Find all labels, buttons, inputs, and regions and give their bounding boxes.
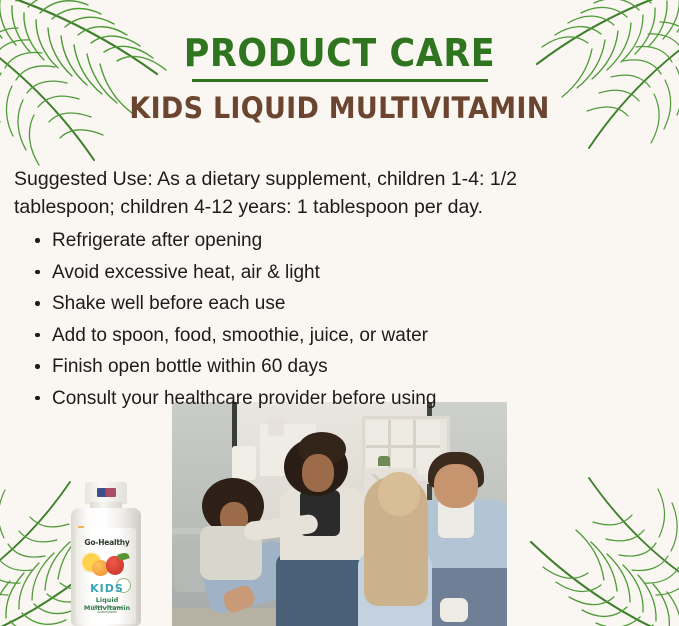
page-header: PRODUCT CARE KIDS LIQUID MULTIVITAMIN [0,34,679,123]
title-underline [192,79,488,82]
list-item: Refrigerate after opening [34,227,594,254]
photo-mother-face [302,454,334,492]
photo-jar-small [268,418,284,436]
family-lifestyle-photo [172,402,507,626]
page-title: PRODUCT CARE [27,34,652,72]
list-item: Finish open bottle within 60 days [34,353,594,380]
product-bottle: Go-Healthy KIDS Liquid Multivitamin Vita… [68,482,144,626]
bottle-label: Go-Healthy KIDS Liquid Multivitamin Vita… [76,528,136,624]
bottle-cap-badge [97,488,116,497]
product-care-infographic: PRODUCT CARE KIDS LIQUID MULTIVITAMIN Su… [0,0,679,626]
list-item: Avoid excessive heat, air & light [34,259,594,286]
photo-plant [378,456,390,466]
photo-father-face [434,464,478,508]
photo-father-sock [440,598,468,622]
list-item: Consult your healthcare provider before … [34,385,594,412]
page-subtitle: KIDS LIQUID MULTIVITAMIN [24,94,655,123]
photo-jar [232,446,256,480]
care-instructions-list: Refrigerate after opening Avoid excessiv… [34,227,594,416]
list-item: Shake well before each use [34,290,594,317]
product-descriptor: Vitamins, Minerals & Antioxidants [82,605,132,616]
photo-mother-legs [276,554,362,626]
photo-child-right-head [378,472,420,516]
list-item: Add to spoon, food, smoothie, juice, or … [34,322,594,349]
brand-name: Go-Healthy [82,538,132,547]
product-audience: KIDS [82,582,132,595]
suggested-use-text: Suggested Use: As a dietary supplement, … [14,165,604,223]
